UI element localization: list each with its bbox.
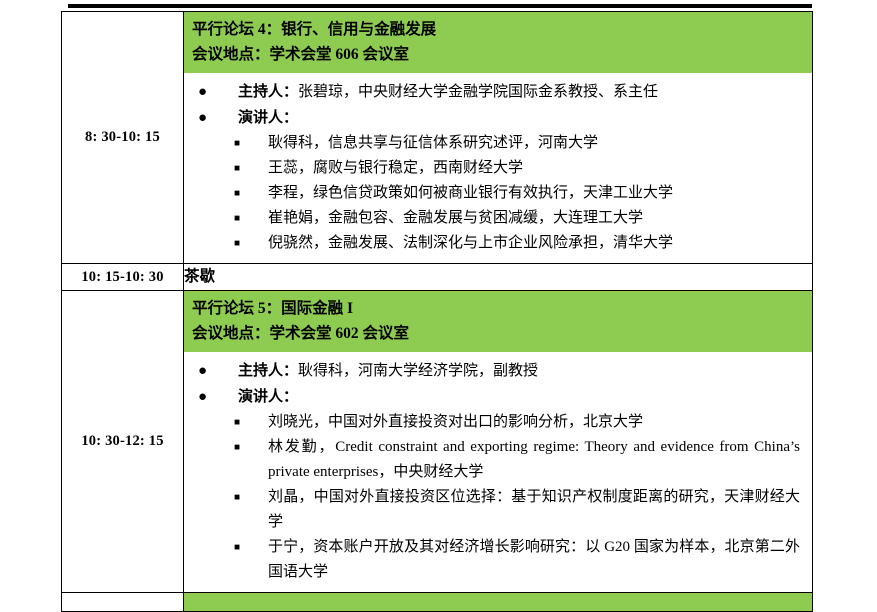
list-item: ■ 刘晓光，中国对外直接投资对出口的影响分析，北京大学	[192, 410, 802, 435]
session-title: 平行论坛 5：国际金融 I	[192, 296, 812, 321]
speaker-entry: 崔艳娟，金融包容、金融发展与贫困减缓，大连理工大学	[268, 206, 802, 231]
host-line: ● 主持人：耿得科，河南大学经济学院，副教授	[192, 358, 802, 384]
bullet-square-icon: ■	[192, 156, 268, 181]
session-cell-forum-5: 平行论坛 5：国际金融 I 会议地点：学术会堂 602 会议室 ● 主持人：耿得…	[184, 291, 813, 593]
speaker-entry: 刘晶，中国对外直接投资区位选择：基于知识产权制度距离的研究，天津财经大学	[268, 485, 802, 535]
list-item: ■ 刘晶，中国对外直接投资区位选择：基于知识产权制度距离的研究，天津财经大学	[192, 485, 802, 535]
bullet-square-icon: ■	[192, 131, 268, 156]
time-cell-next	[62, 593, 184, 612]
host-role-label: 主持人：	[238, 84, 298, 100]
table-row: 8: 30-10: 15 平行论坛 4：银行、信用与金融发展 会议地点：学术会堂…	[62, 12, 813, 264]
list-item: ■ 王蕊，腐败与银行稳定，西南财经大学	[192, 156, 802, 181]
session-body-forum-4: ● 主持人：张碧琼，中央财经大学金融学院国际金系教授、系主任 ● 演讲人： ■ …	[184, 73, 812, 263]
speaker-entry: 王蕊，腐败与银行稳定，西南财经大学	[268, 156, 802, 181]
speakers-label: 演讲人：	[238, 105, 802, 131]
list-item: ■ 于宁，资本账户开放及其对经济增长影响研究：以 G20 国家为样本，北京第二外…	[192, 535, 802, 585]
session-venue: 会议地点：学术会堂 602 会议室	[192, 321, 812, 346]
time-cell-tea-break: 10: 15-10: 30	[62, 264, 184, 291]
bullet-square-icon: ■	[192, 181, 268, 206]
table-row: 10: 15-10: 30 茶歇	[62, 264, 813, 291]
speakers-heading: ● 演讲人：	[192, 105, 802, 131]
host-text: 主持人：耿得科，河南大学经济学院，副教授	[238, 358, 802, 384]
session-title: 平行论坛 4：银行、信用与金融发展	[192, 17, 812, 42]
bullet-square-icon: ■	[192, 485, 268, 510]
speaker-entry: 于宁，资本账户开放及其对经济增长影响研究：以 G20 国家为样本，北京第二外国语…	[268, 535, 802, 585]
session-banner-next-partial	[184, 593, 813, 612]
schedule-document: 8: 30-10: 15 平行论坛 4：银行、信用与金融发展 会议地点：学术会堂…	[61, 11, 812, 612]
session-venue: 会议地点：学术会堂 606 会议室	[192, 42, 812, 67]
host-line: ● 主持人：张碧琼，中央财经大学金融学院国际金系教授、系主任	[192, 79, 802, 105]
speakers-heading: ● 演讲人：	[192, 384, 802, 410]
list-item: ■ 耿得科，信息共享与征信体系研究述评，河南大学	[192, 131, 802, 156]
bullet-square-icon: ■	[192, 435, 268, 460]
speaker-entry: 倪骁然，金融发展、法制深化与上市企业风险承担，清华大学	[268, 231, 802, 256]
host-name: 张碧琼，中央财经大学金融学院国际金系教授、系主任	[298, 84, 658, 100]
bullet-square-icon: ■	[192, 535, 268, 560]
list-item: ■ 李程，绿色信贷政策如何被商业银行有效执行，天津工业大学	[192, 181, 802, 206]
bullet-disc-icon: ●	[192, 79, 238, 105]
time-cell-forum-5: 10: 30-12: 15	[62, 291, 184, 593]
speaker-entry: 李程，绿色信贷政策如何被商业银行有效执行，天津工业大学	[268, 181, 802, 206]
page-top-rule	[68, 4, 812, 8]
table-row: 10: 30-12: 15 平行论坛 5：国际金融 I 会议地点：学术会堂 60…	[62, 291, 813, 593]
tea-break-label: 茶歇	[184, 264, 813, 291]
speakers-label: 演讲人：	[238, 384, 802, 410]
host-text: 主持人：张碧琼，中央财经大学金融学院国际金系教授、系主任	[238, 79, 802, 105]
host-role-label: 主持人：	[238, 363, 298, 379]
schedule-table: 8: 30-10: 15 平行论坛 4：银行、信用与金融发展 会议地点：学术会堂…	[61, 11, 813, 612]
session-body-forum-5: ● 主持人：耿得科，河南大学经济学院，副教授 ● 演讲人： ■ 刘晓光，中国对外…	[184, 352, 812, 592]
bullet-square-icon: ■	[192, 206, 268, 231]
bullet-disc-icon: ●	[192, 105, 238, 131]
bullet-square-icon: ■	[192, 410, 268, 435]
speaker-entry: 耿得科，信息共享与征信体系研究述评，河南大学	[268, 131, 802, 156]
time-cell-forum-4: 8: 30-10: 15	[62, 12, 184, 264]
bullet-disc-icon: ●	[192, 384, 238, 410]
list-item: ■ 崔艳娟，金融包容、金融发展与贫困减缓，大连理工大学	[192, 206, 802, 231]
bullet-square-icon: ■	[192, 231, 268, 256]
bullet-disc-icon: ●	[192, 358, 238, 384]
table-row-partial	[62, 593, 813, 612]
speaker-entry: 林发勤，Credit constraint and exporting regi…	[268, 435, 802, 485]
session-banner-forum-4: 平行论坛 4：银行、信用与金融发展 会议地点：学术会堂 606 会议室	[184, 12, 812, 73]
host-name: 耿得科，河南大学经济学院，副教授	[298, 363, 538, 379]
list-item: ■ 林发勤，Credit constraint and exporting re…	[192, 435, 802, 485]
speaker-entry: 刘晓光，中国对外直接投资对出口的影响分析，北京大学	[268, 410, 802, 435]
session-banner-forum-5: 平行论坛 5：国际金融 I 会议地点：学术会堂 602 会议室	[184, 291, 812, 352]
list-item: ■ 倪骁然，金融发展、法制深化与上市企业风险承担，清华大学	[192, 231, 802, 256]
session-cell-forum-4: 平行论坛 4：银行、信用与金融发展 会议地点：学术会堂 606 会议室 ● 主持…	[184, 12, 813, 264]
